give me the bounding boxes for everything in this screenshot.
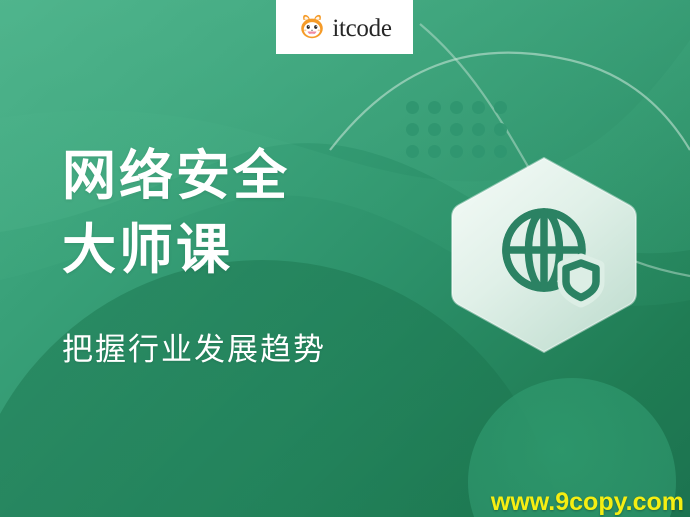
brand-logo-box[interactable]: itcode <box>276 0 413 54</box>
grid-dot <box>472 123 485 136</box>
hexagon-shape <box>449 155 639 355</box>
brand-logo-text: itcode <box>332 16 391 41</box>
grid-dot <box>472 101 485 114</box>
course-cover-banner: itcode 网络安全 大师课 把握行业发展趋势 <box>0 0 690 517</box>
grid-dot <box>494 123 507 136</box>
hero-text-block: 网络安全 大师课 把握行业发展趋势 <box>62 139 402 368</box>
shield-icon <box>563 259 599 302</box>
grid-dot <box>428 123 441 136</box>
hero-title-line-1: 网络安全 <box>62 139 402 213</box>
grid-dot <box>406 101 419 114</box>
site-watermark: www.9copy.com <box>491 490 684 515</box>
dot-grid-decoration <box>406 101 502 149</box>
grid-dot <box>406 145 419 158</box>
hero-subtitle: 把握行业发展趋势 <box>62 331 402 368</box>
badge-hexagon <box>449 155 639 355</box>
grid-dot <box>450 123 463 136</box>
hero-title-line-2: 大师课 <box>62 213 402 287</box>
grid-dot <box>428 101 441 114</box>
grid-dot <box>428 145 441 158</box>
grid-dot <box>406 123 419 136</box>
grid-dot <box>450 101 463 114</box>
cat-mascot-icon <box>297 12 327 42</box>
grid-dot <box>494 101 507 114</box>
